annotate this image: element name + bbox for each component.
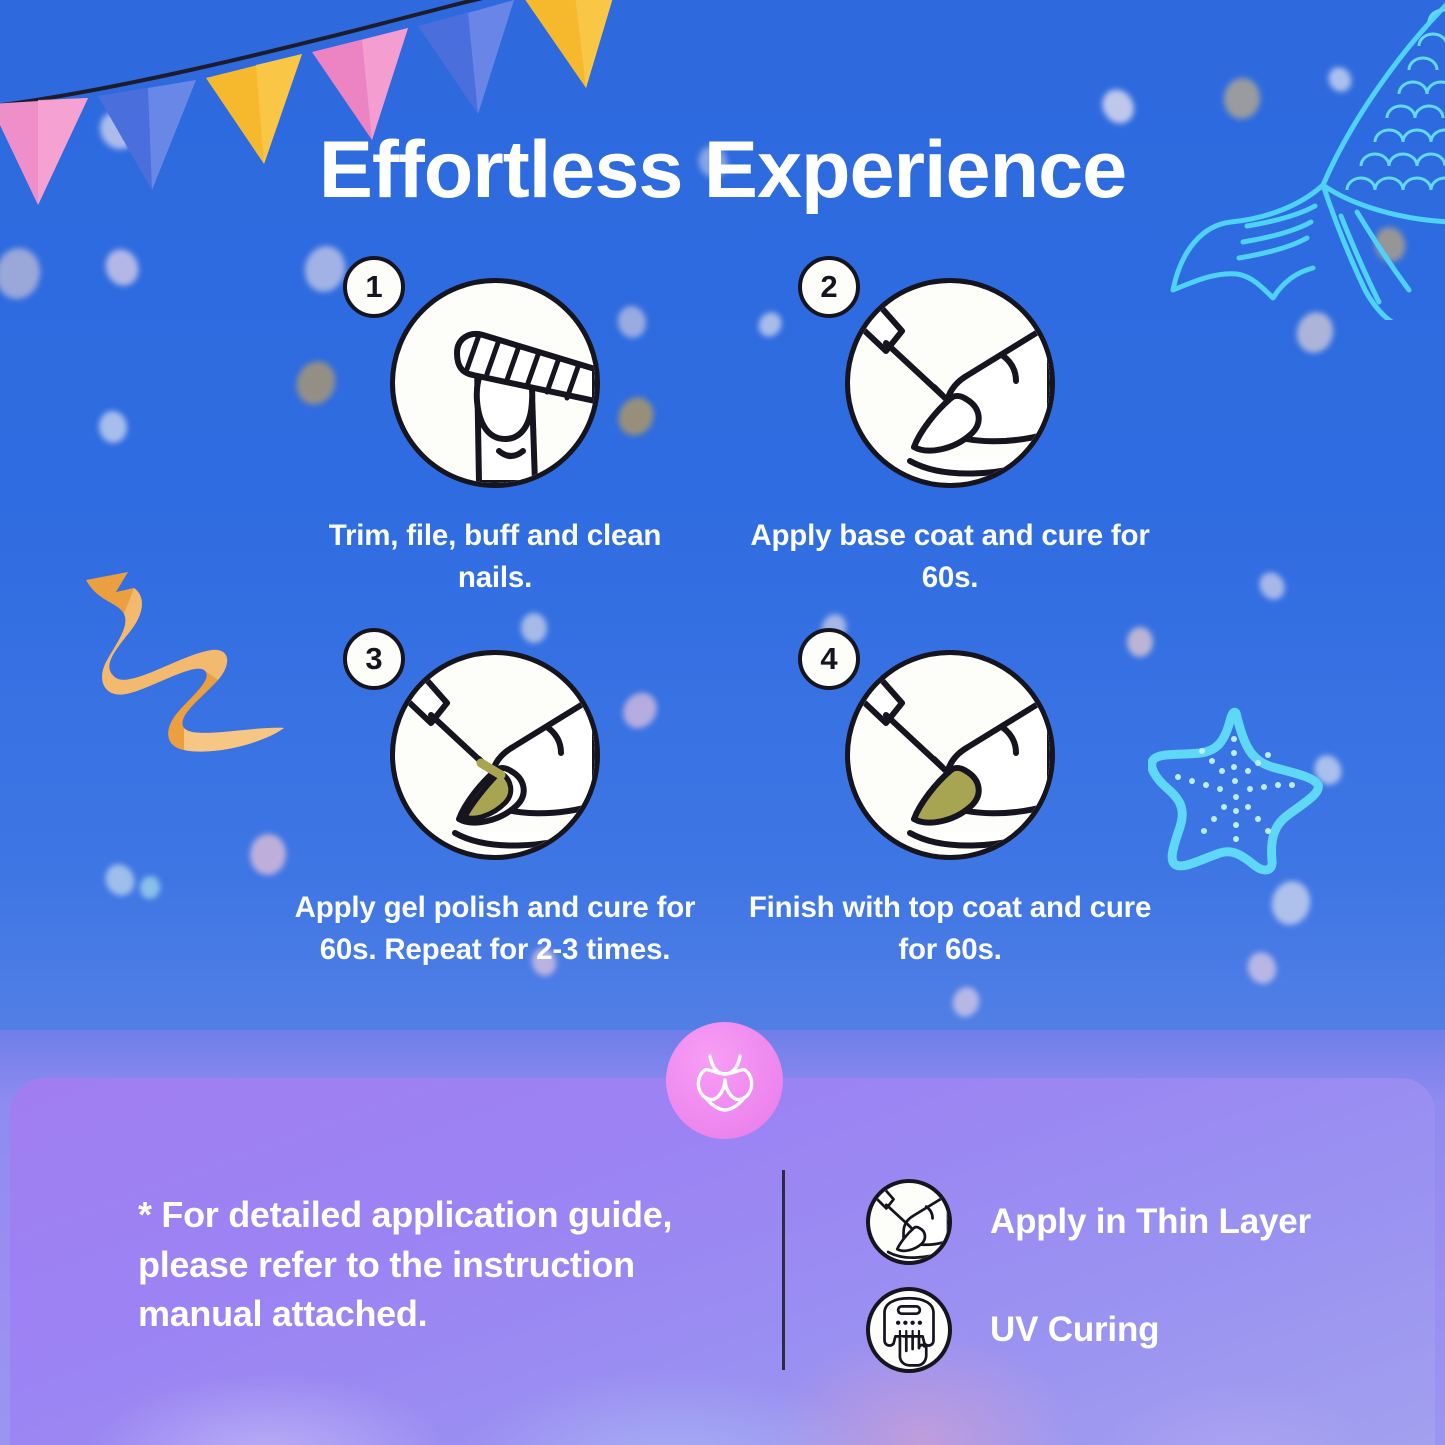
step-4-illustration: 4 [845, 650, 1055, 860]
step-1: 1 Trim, file, buff and clean nails. [268, 278, 723, 599]
step-1-illustration: 1 [390, 278, 600, 488]
infographic-root: Effortless Experience [0, 0, 1445, 1445]
brush-top-coat-icon [850, 655, 1050, 855]
step-3-illustration: 3 [390, 650, 600, 860]
step-3-caption: Apply gel polish and cure for 60s. Repea… [280, 887, 710, 971]
mermaid-bow-logo-icon [688, 1046, 762, 1116]
nail-file-icon [395, 283, 595, 483]
step-2-illustration: 2 [845, 278, 1055, 488]
brush-base-coat-icon [850, 283, 1050, 483]
step-4-caption: Finish with top coat and cure for 60s. [735, 887, 1165, 971]
steps-row-2: 3 Apply gel polish and cure for 60s. Rep… [0, 650, 1445, 971]
step-2-caption: Apply base coat and cure for 60s. [750, 515, 1150, 599]
tips-list: Apply in Thin Layer [866, 1168, 1311, 1384]
step-2-number: 2 [798, 256, 860, 318]
page-title: Effortless Experience [0, 128, 1445, 213]
tip-label: UV Curing [990, 1310, 1159, 1350]
step-2-circle [845, 278, 1055, 488]
step-4-circle [845, 650, 1055, 860]
step-4: 4 Finish with top coat and cure for 60s. [723, 650, 1178, 971]
step-4-number: 4 [798, 628, 860, 690]
brush-gel-polish-icon [395, 655, 595, 855]
footer-note: * For detailed application guide, please… [138, 1190, 738, 1339]
step-1-circle [390, 278, 600, 488]
uv-lamp-icon [866, 1287, 952, 1373]
thin-layer-brush-glyph [870, 1183, 948, 1261]
step-2: 2 Apply base coat and cure for 60s. [723, 278, 1178, 599]
step-3-circle [390, 650, 600, 860]
step-1-number: 1 [343, 256, 405, 318]
steps-section: 1 Trim, file, buff and clean nails. [0, 278, 1445, 971]
brand-badge [666, 1022, 783, 1139]
tip-uv-curing: UV Curing [866, 1276, 1311, 1384]
step-3: 3 Apply gel polish and cure for 60s. Rep… [268, 650, 723, 971]
steps-row-1: 1 Trim, file, buff and clean nails. [0, 278, 1445, 599]
step-1-caption: Trim, file, buff and clean nails. [295, 515, 695, 599]
tip-label: Apply in Thin Layer [990, 1202, 1311, 1242]
step-3-number: 3 [343, 628, 405, 690]
tip-apply-thin-layer: Apply in Thin Layer [866, 1168, 1311, 1276]
footer-divider [782, 1170, 785, 1370]
thin-layer-brush-icon [866, 1179, 952, 1265]
uv-lamp-glyph [870, 1291, 948, 1369]
